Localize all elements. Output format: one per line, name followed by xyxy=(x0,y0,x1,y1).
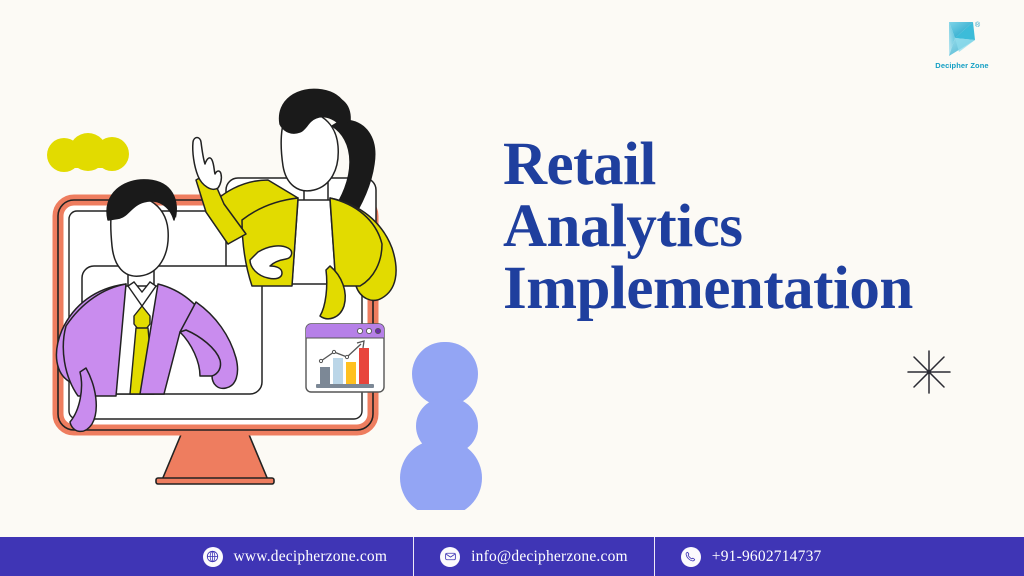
yellow-cloud-blob xyxy=(47,133,129,172)
envelope-icon xyxy=(440,547,460,567)
headline-line-2: Analytics xyxy=(503,196,973,258)
blue-stacked-blob xyxy=(400,342,482,510)
eight-point-sparkle-icon xyxy=(905,348,953,396)
phone-icon xyxy=(681,547,701,567)
svg-text:®: ® xyxy=(975,21,981,29)
headline-line-3: Implementation xyxy=(503,258,973,320)
bar-chart-browser-window-widget xyxy=(306,324,384,392)
logo-wordmark: Decipher Zone xyxy=(914,62,1010,70)
footer-item-website[interactable]: www.decipherzone.com xyxy=(177,537,414,576)
banner-canvas: Retail Analytics Implementation xyxy=(0,0,1024,576)
decipher-zone-logo[interactable]: ® Decipher Zone xyxy=(914,18,1010,70)
play-arrow-triangle-icon: ® xyxy=(939,18,985,60)
globe-icon xyxy=(203,547,223,567)
footer-website-label: www.decipherzone.com xyxy=(234,548,388,566)
footer-email-label: info@decipherzone.com xyxy=(471,548,628,566)
contact-footer-bar: www.decipherzone.com info@decipherzone.c… xyxy=(0,537,1024,576)
footer-phone-label: +91-9602714737 xyxy=(712,548,822,566)
footer-item-email[interactable]: info@decipherzone.com xyxy=(414,537,654,576)
footer-item-phone[interactable]: +91-9602714737 xyxy=(655,537,848,576)
retail-analytics-illustration xyxy=(30,80,500,510)
headline-line-1: Retail xyxy=(503,134,973,196)
page-title: Retail Analytics Implementation xyxy=(503,134,973,320)
